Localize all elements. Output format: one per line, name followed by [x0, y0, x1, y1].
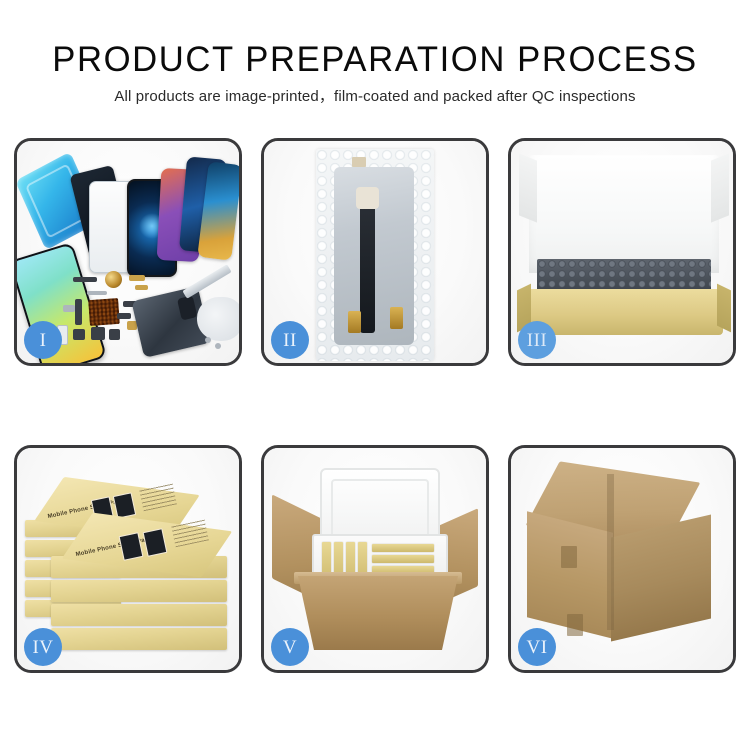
stacked-box	[51, 604, 227, 626]
bubble-wrap-bag	[316, 149, 434, 361]
screw-part	[215, 343, 221, 349]
carton-tape-patch	[567, 614, 583, 636]
gold-connector-tab	[348, 311, 361, 333]
small-part	[91, 327, 105, 340]
process-steps-grid: I II	[14, 138, 736, 673]
small-part	[135, 285, 148, 290]
step-numeral-1: I	[40, 331, 47, 350]
step-numeral-6: VI	[526, 638, 547, 657]
stacked-box	[51, 628, 227, 650]
process-step-panel-1[interactable]: I	[14, 138, 242, 366]
page-subtitle: All products are image-printed，film-coat…	[0, 87, 750, 106]
carton-front-face	[298, 576, 458, 650]
carton-tape-patch	[561, 546, 577, 568]
yellow-box-item	[372, 555, 434, 563]
step-badge-6: VI	[518, 628, 556, 666]
process-step-panel-2[interactable]: II	[261, 138, 489, 366]
copper-coil-part	[105, 271, 122, 288]
bubble-wrapped-contents	[537, 259, 711, 293]
small-part	[87, 291, 107, 295]
yellow-box-base	[525, 289, 723, 335]
step-badge-4: IV	[24, 628, 62, 666]
flex-cable-strip	[360, 201, 375, 333]
product-preparation-process-page: PRODUCT PREPARATION PROCESS All products…	[0, 0, 750, 750]
page-header: PRODUCT PREPARATION PROCESS All products…	[0, 40, 750, 106]
small-part	[63, 305, 75, 312]
small-part	[73, 277, 97, 282]
tweezers-icon	[182, 264, 231, 298]
tape-piece	[352, 157, 366, 167]
process-step-panel-5[interactable]: V	[261, 445, 489, 673]
step-badge-2: II	[271, 321, 309, 359]
gloved-hand	[197, 297, 239, 341]
process-step-panel-4[interactable]: Mobile Phone Spare Parts Mobile Phone Sp…	[14, 445, 242, 673]
step-numeral-3: III	[527, 331, 547, 350]
small-part	[109, 329, 120, 340]
stacked-box	[51, 580, 227, 602]
page-title: PRODUCT PREPARATION PROCESS	[4, 40, 747, 80]
step-numeral-2: II	[283, 331, 297, 350]
step-badge-3: III	[518, 321, 556, 359]
small-part	[117, 313, 131, 319]
small-part	[73, 329, 85, 340]
small-part	[75, 299, 82, 325]
small-part	[129, 275, 145, 281]
step-badge-5: V	[271, 628, 309, 666]
step-numeral-5: V	[283, 638, 297, 657]
gold-connector-tab	[390, 307, 403, 329]
carton-right-face	[611, 514, 711, 641]
connector-chip-part	[88, 298, 120, 326]
carton-seam	[607, 474, 614, 630]
step-numeral-4: IV	[32, 638, 53, 657]
white-box-lid	[529, 155, 719, 273]
process-step-panel-3[interactable]: III	[508, 138, 736, 366]
step-badge-1: I	[24, 321, 62, 359]
camera-module-icon	[177, 295, 198, 320]
process-step-panel-6[interactable]: VI	[508, 445, 736, 673]
screw-part	[205, 337, 211, 343]
yellow-box-item	[372, 544, 434, 552]
